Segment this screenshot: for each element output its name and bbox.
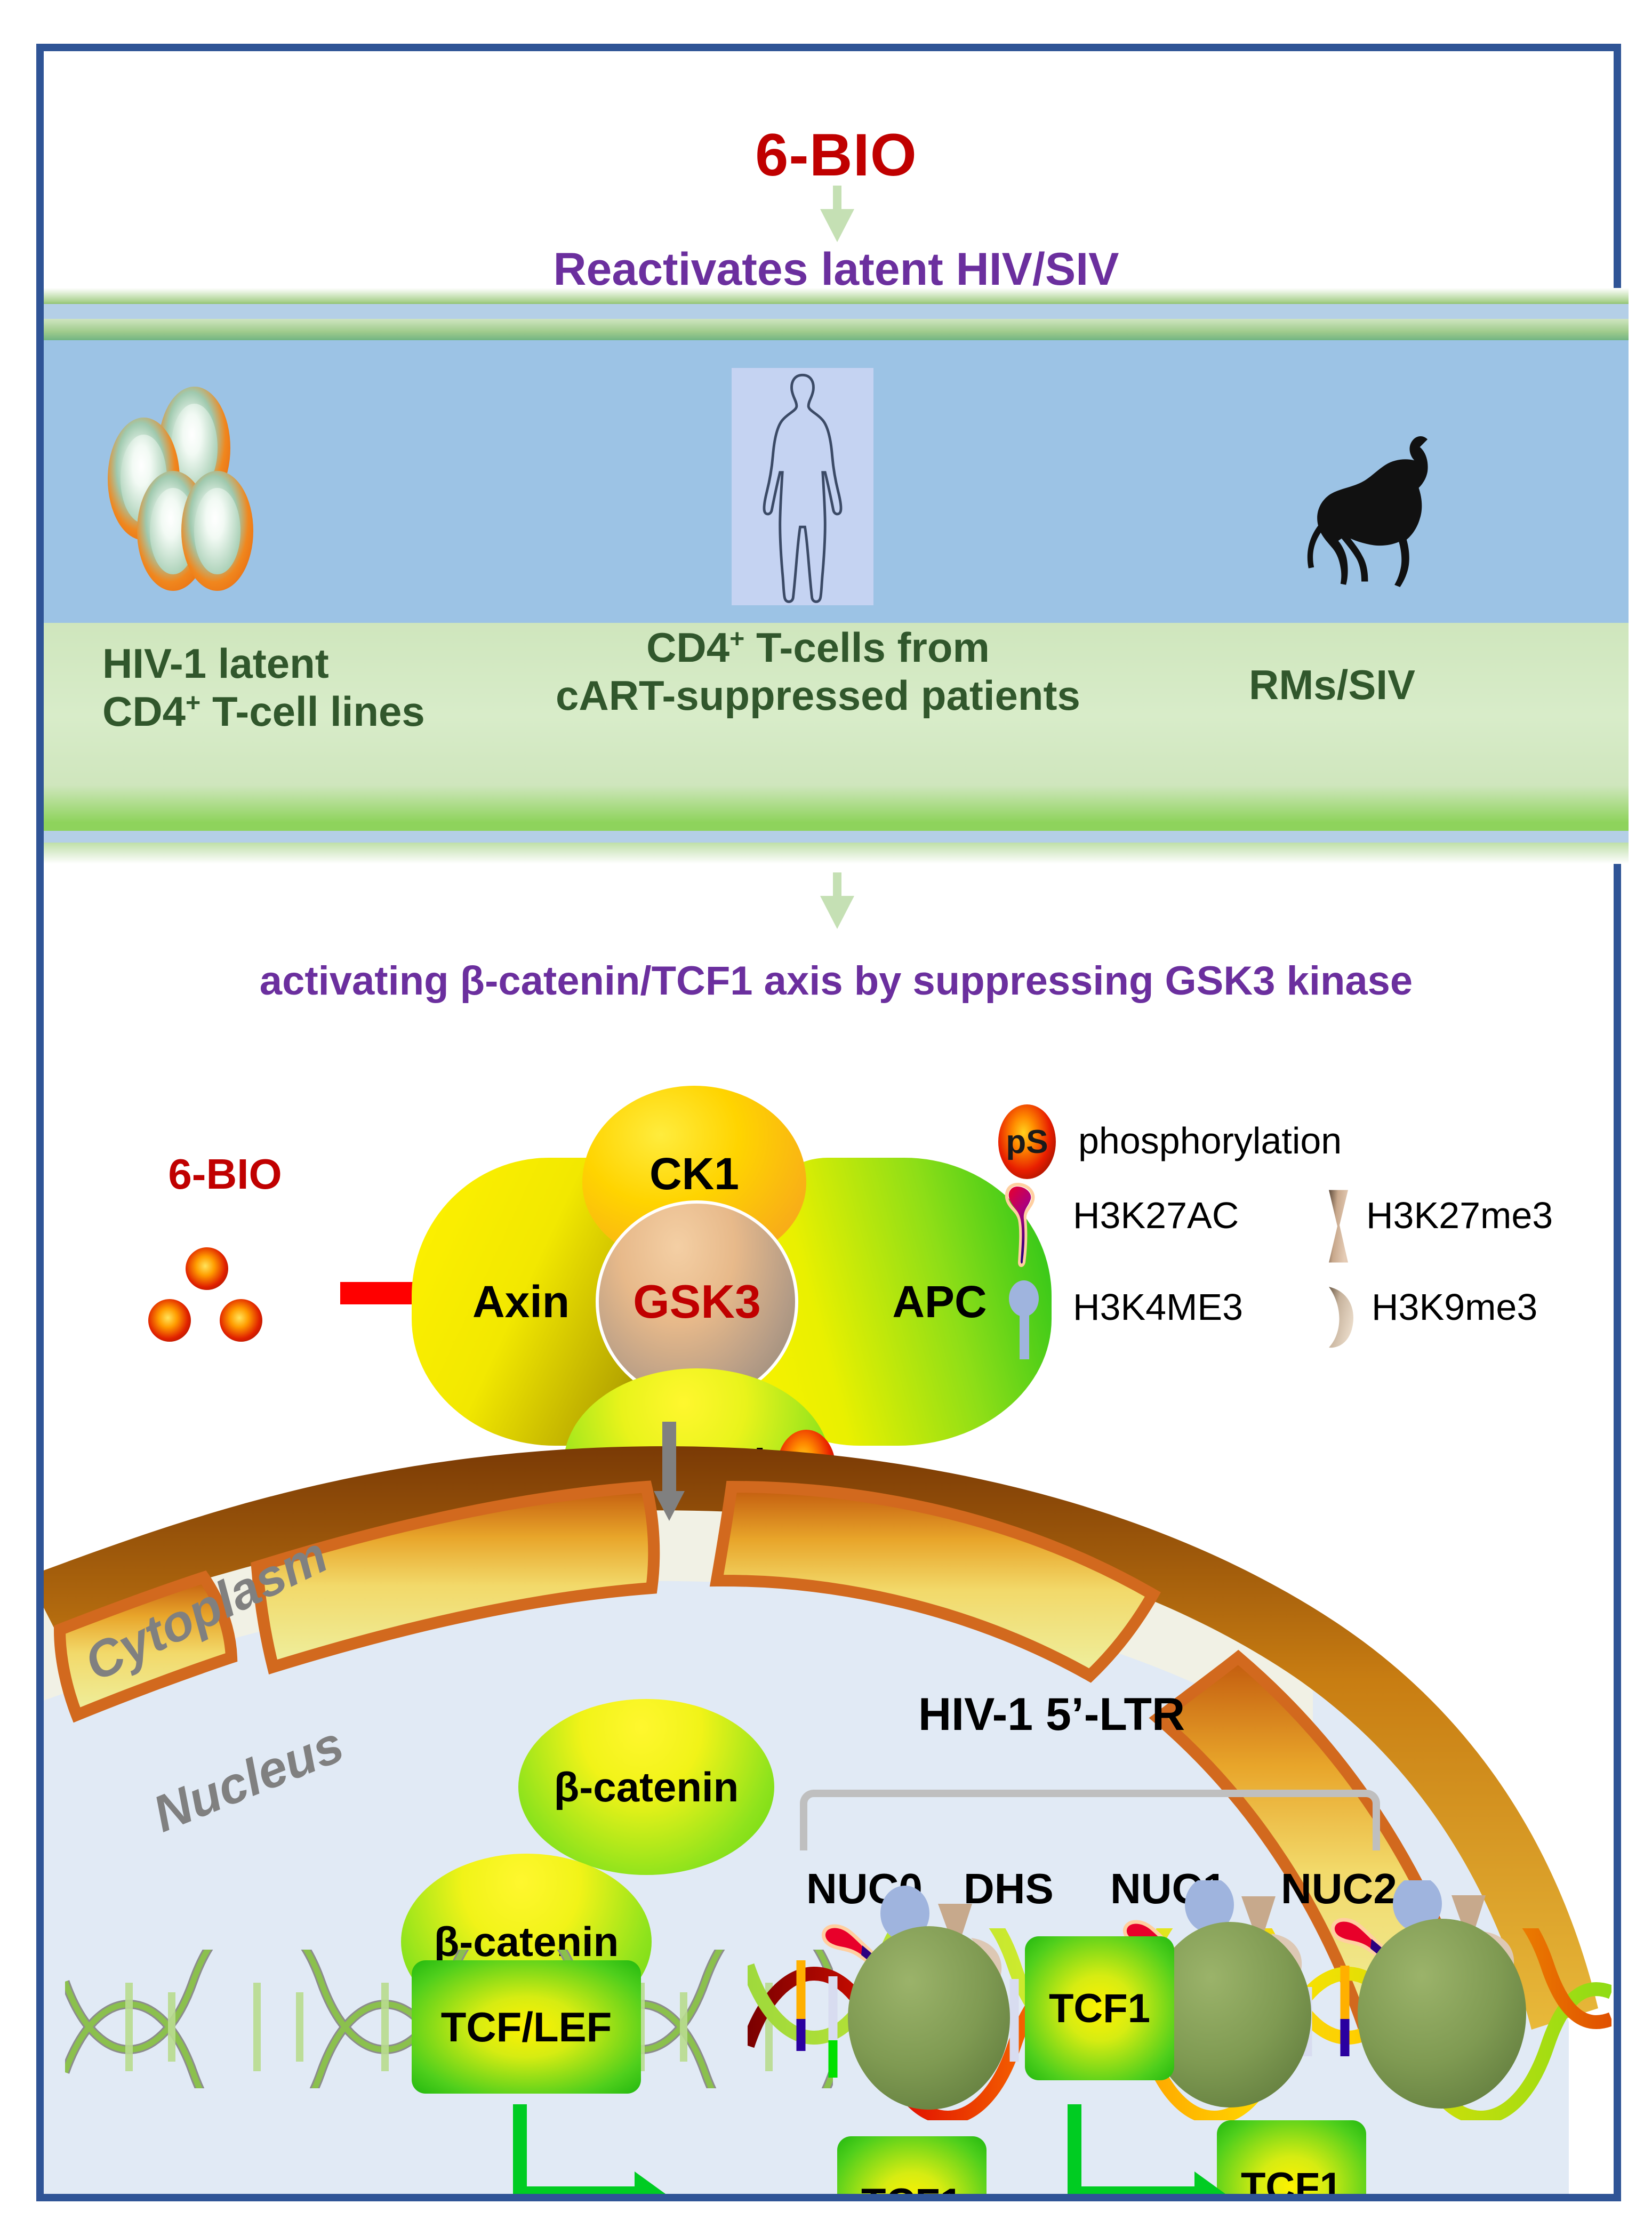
protein-beta-catenin-nuclear: β-catenin xyxy=(518,1699,774,1875)
nucleosome-nuc0 xyxy=(820,1886,1044,2126)
cell-lines-sup: + xyxy=(186,688,201,717)
cell-lines-line1: HIV-1 latent xyxy=(102,640,329,687)
nuclear-import-arrow xyxy=(651,1422,688,1523)
monkey-silhouette-icon xyxy=(1265,424,1489,589)
ltr-bracket xyxy=(800,1790,1380,1850)
legend-label-phosphorylation: phosphorylation xyxy=(1078,1119,1342,1162)
h3k4me3-lollipop-icon xyxy=(1006,1279,1043,1359)
cell-lines-line2-pre: CD4 xyxy=(102,688,186,735)
model-label-rms: RMs/SIV xyxy=(1249,661,1415,709)
h3k9me3-crescent-icon xyxy=(1318,1285,1359,1350)
h3k27me3-flag-icon xyxy=(1318,1188,1356,1265)
transcription-arrow-right xyxy=(1068,2104,1249,2194)
model-label-cell-lines: HIV-1 latent CD4+ T-cell lines xyxy=(102,640,425,735)
drug-label-6bio: 6-BIO xyxy=(134,1150,316,1199)
nucleosome-nuc2 xyxy=(1329,1880,1558,2126)
patients-line1-post: T-cells from xyxy=(744,624,989,671)
legend-label-h3k9me3: H3K9me3 xyxy=(1372,1286,1537,1328)
band-green-top xyxy=(44,288,1629,304)
mechanism-line: activating β-catenin/TCF1 axis by suppre… xyxy=(44,958,1629,1004)
figure-frame: 6-BIO Reactivates latent HIV/SIV xyxy=(36,44,1621,2201)
cell-diagram: Cytoplasm Nucleus HIV-1 5’-LTR NUC0 DHS … xyxy=(44,1416,1614,2194)
tcf1-box-nuc0-bottom: TCF1 xyxy=(837,2136,987,2194)
band-green-line xyxy=(44,319,1629,340)
ps-circle-icon: pS xyxy=(998,1104,1056,1179)
band-blue-foot xyxy=(44,831,1629,843)
legend-label-h3k27ac: H3K27AC xyxy=(1073,1194,1239,1237)
tcf-lef-box: TCF/LEF xyxy=(412,1960,641,2094)
drug-molecule-icon xyxy=(220,1299,262,1342)
patients-sup: + xyxy=(729,624,744,653)
ltr-title: HIV-1 5’-LTR xyxy=(918,1688,1185,1741)
human-silhouette-icon xyxy=(732,368,873,605)
rms-line1: RMs/SIV xyxy=(1249,661,1415,708)
band-green-foot xyxy=(44,843,1629,864)
legend-panel: pS phosphorylation H3K27AC xyxy=(998,1104,1627,1350)
transcription-arrow-left xyxy=(513,2104,684,2194)
model-label-patients: CD4+ T-cells from cART-suppressed patien… xyxy=(556,624,1080,719)
figure-canvas: 6-BIO Reactivates latent HIV/SIV xyxy=(0,0,1652,2236)
legend-row-h3k4-h3k9: H3K4ME3 H3K9me3 xyxy=(998,1270,1627,1350)
h3k27ac-tail-icon xyxy=(1003,1179,1050,1270)
cell-lines-line2-post: T-cell lines xyxy=(201,688,425,735)
legend-row-phosphorylation: pS phosphorylation xyxy=(998,1104,1627,1184)
legend-row-h3k27: H3K27AC H3K27me3 xyxy=(998,1184,1627,1270)
cell-cluster-icon xyxy=(102,387,316,563)
band-blue-thin xyxy=(44,304,1629,319)
patients-line2: cART-suppressed patients xyxy=(556,672,1080,719)
page-title: 6-BIO xyxy=(44,121,1629,189)
model-systems-band: HIV-1 latent CD4+ T-cell lines CD4+ T-ce… xyxy=(44,288,1629,864)
legend-label-h3k27me3: H3K27me3 xyxy=(1366,1194,1553,1237)
drug-molecule-icon xyxy=(186,1247,228,1290)
patients-line1-pre: CD4 xyxy=(646,624,729,671)
tcf1-box-dhs-top: TCF1 xyxy=(1025,1936,1174,2080)
drug-molecule-icon xyxy=(148,1299,191,1342)
legend-label-h3k4me3: H3K4ME3 xyxy=(1073,1286,1243,1328)
